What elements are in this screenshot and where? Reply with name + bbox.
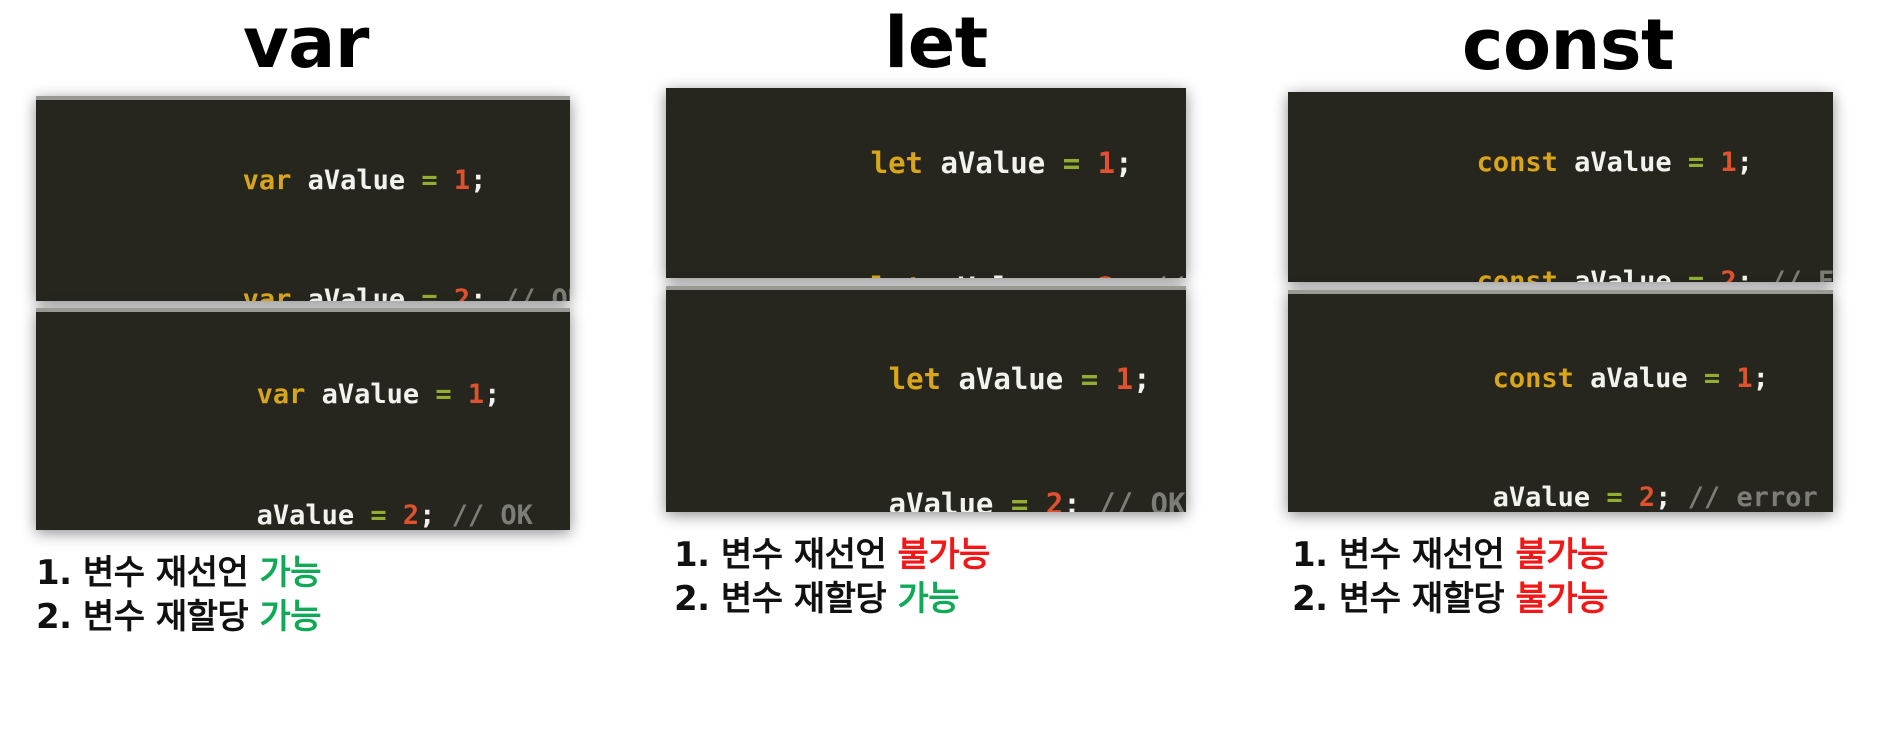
column-let: let let aValue = 1; let aValue = 2; // E… <box>640 0 1270 747</box>
token-keyword: var <box>243 284 292 301</box>
code-line: var aValue = 1; <box>80 140 570 221</box>
note-line: 1. 변수 재선언 불가능 <box>674 534 1250 578</box>
token-operator: = <box>1063 146 1080 180</box>
token-number: 1 <box>1080 146 1115 180</box>
token-comment: // Error <box>1753 266 1833 282</box>
token-identifier: aValue <box>305 379 435 410</box>
notes-const: 1. 변수 재선언 불가능 2. 변수 재할당 불가능 <box>1292 534 1871 621</box>
note-verdict: 가능 <box>898 579 960 619</box>
code-card-var-redeclare: var aValue = 1; var aValue = 2; // OK <box>36 96 570 301</box>
note-verdict: 가능 <box>260 553 322 593</box>
token-keyword: const <box>1477 266 1558 282</box>
token-comment: // Error <box>1133 271 1186 278</box>
token-number: 1 <box>452 379 485 410</box>
token-number: 1 <box>1720 363 1753 394</box>
token-punctuation: ; <box>1133 362 1150 396</box>
token-identifier: aValue <box>1574 363 1704 394</box>
token-identifier: aValue <box>941 362 1081 396</box>
column-var: var var aValue = 1; var aValue = 2; // O… <box>0 0 640 747</box>
note-index: 1. <box>674 535 721 575</box>
code-line: let aValue = 2; // Error <box>696 245 1186 278</box>
token-comment: // OK <box>486 284 570 301</box>
token-keyword: let <box>889 362 941 396</box>
note-line: 2. 변수 재할당 가능 <box>674 578 1250 622</box>
token-punctuation: ; <box>1655 482 1671 512</box>
note-line: 2. 변수 재할당 가능 <box>36 596 620 640</box>
token-identifier: aValue <box>1493 482 1607 512</box>
code-card-let-redeclare: let aValue = 1; let aValue = 2; // Error <box>666 88 1186 278</box>
code-stack-let: let aValue = 1; let aValue = 2; // Error… <box>666 88 1250 512</box>
token-operator: = <box>421 165 437 196</box>
code-card-const-redeclare: const aValue = 1; const aValue = 2; // E… <box>1288 92 1833 282</box>
token-number: 2 <box>387 500 420 530</box>
token-identifier: aValue <box>923 271 1063 278</box>
notes-var: 1. 변수 재선언 가능 2. 변수 재할당 가능 <box>36 552 620 639</box>
code-card-var-reassign: var aValue = 1; aValue = 2; // OK <box>36 308 570 530</box>
token-operator: = <box>1081 362 1098 396</box>
note-index: 1. <box>1292 535 1339 575</box>
token-keyword: var <box>257 379 306 410</box>
token-comment: // error <box>1671 482 1817 512</box>
note-text: 변수 재선언 <box>83 553 260 593</box>
code-line: aValue = 2; // OK <box>714 461 1186 512</box>
code-line: let aValue = 1; <box>696 120 1186 207</box>
code-line: const aValue = 1; <box>1314 122 1833 203</box>
token-operator: = <box>1011 487 1028 512</box>
note-index: 2. <box>36 597 83 637</box>
note-text: 변수 재할당 <box>1339 579 1516 619</box>
token-number: 2 <box>1080 271 1115 278</box>
code-card-let-reassign: let aValue = 1; aValue = 2; // OK <box>666 286 1186 512</box>
token-operator: = <box>1606 482 1622 512</box>
token-number: 2 <box>1028 487 1063 512</box>
token-comment: // OK <box>1081 487 1186 512</box>
token-keyword: var <box>243 165 292 196</box>
note-index: 1. <box>36 553 83 593</box>
token-identifier: aValue <box>1558 147 1688 178</box>
note-verdict: 불가능 <box>898 535 990 575</box>
note-line: 1. 변수 재선언 가능 <box>36 552 620 596</box>
code-line: aValue = 2; // error <box>1330 457 1833 512</box>
note-verdict: 가능 <box>260 597 322 637</box>
code-line: const aValue = 2; // Error <box>1314 241 1833 282</box>
note-index: 2. <box>1292 579 1339 619</box>
column-title-var: var <box>36 8 576 78</box>
token-keyword: let <box>871 271 923 278</box>
token-punctuation: ; <box>470 165 486 196</box>
token-comment: // OK <box>435 500 533 530</box>
token-keyword: let <box>871 146 923 180</box>
token-identifier: aValue <box>889 487 1011 512</box>
token-punctuation: ; <box>1115 271 1132 278</box>
note-line: 2. 변수 재할당 불가능 <box>1292 578 1871 622</box>
token-punctuation: ; <box>1737 266 1753 282</box>
comparison-board: var var aValue = 1; var aValue = 2; // O… <box>0 0 1885 747</box>
token-operator: = <box>1688 266 1704 282</box>
token-identifier: aValue <box>291 165 421 196</box>
code-stack-const: const aValue = 1; const aValue = 2; // E… <box>1288 92 1871 512</box>
token-keyword: const <box>1493 363 1574 394</box>
token-number: 1 <box>438 165 471 196</box>
code-line: let aValue = 1; <box>714 336 1186 423</box>
token-operator: = <box>370 500 386 530</box>
note-text: 변수 재할당 <box>721 579 898 619</box>
code-line: aValue = 2; // OK <box>94 475 570 530</box>
token-number: 2 <box>438 284 471 301</box>
column-title-let: let <box>666 8 1206 78</box>
token-identifier: aValue <box>1558 266 1688 282</box>
column-title-const: const <box>1288 10 1848 80</box>
code-card-const-reassign: const aValue = 1; aValue = 2; // error <box>1288 290 1833 512</box>
code-line: const aValue = 1; <box>1330 338 1833 419</box>
column-const: const const aValue = 1; const aValue = 2… <box>1270 0 1885 747</box>
note-text: 변수 재선언 <box>1339 535 1516 575</box>
token-identifier: aValue <box>291 284 421 301</box>
token-punctuation: ; <box>1753 363 1769 394</box>
code-line: var aValue = 1; <box>94 354 570 435</box>
token-punctuation: ; <box>1737 147 1753 178</box>
token-operator: = <box>421 284 437 301</box>
notes-let: 1. 변수 재선언 불가능 2. 변수 재할당 가능 <box>674 534 1250 621</box>
note-verdict: 불가능 <box>1516 579 1608 619</box>
token-operator: = <box>1688 147 1704 178</box>
token-punctuation: ; <box>484 379 500 410</box>
token-number: 2 <box>1704 266 1737 282</box>
token-identifier: aValue <box>923 146 1063 180</box>
note-verdict: 불가능 <box>1516 535 1608 575</box>
token-keyword: const <box>1477 147 1558 178</box>
token-punctuation: ; <box>1115 146 1132 180</box>
code-line: var aValue = 2; // OK <box>80 259 570 301</box>
token-number: 2 <box>1623 482 1656 512</box>
token-number: 1 <box>1704 147 1737 178</box>
note-index: 2. <box>674 579 721 619</box>
token-operator: = <box>1704 363 1720 394</box>
note-text: 변수 재할당 <box>83 597 260 637</box>
token-punctuation: ; <box>1063 487 1080 512</box>
token-operator: = <box>435 379 451 410</box>
note-line: 1. 변수 재선언 불가능 <box>1292 534 1871 578</box>
code-stack-var: var aValue = 1; var aValue = 2; // OK va… <box>36 96 620 530</box>
token-identifier: aValue <box>257 500 371 530</box>
token-operator: = <box>1063 271 1080 278</box>
token-number: 1 <box>1098 362 1133 396</box>
note-text: 변수 재선언 <box>721 535 898 575</box>
token-punctuation: ; <box>419 500 435 530</box>
token-punctuation: ; <box>470 284 486 301</box>
